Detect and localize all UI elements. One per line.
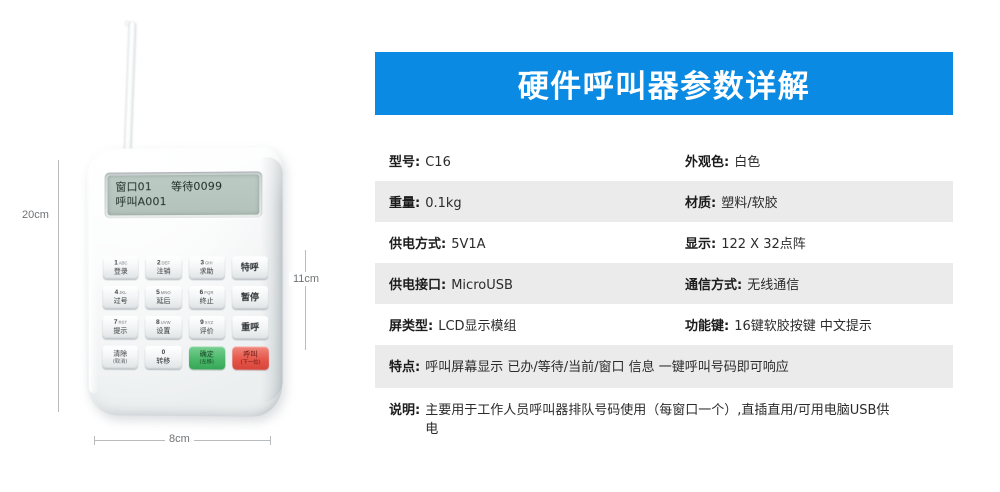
key-9-digit: 9 xyxy=(200,319,204,327)
key-confirm[interactable]: 确定 (左移) xyxy=(189,346,226,369)
height-dimension-label: 20cm xyxy=(18,208,53,222)
product-figure: 20cm 窗口01 等待0099 呼叫A001 1 xyxy=(0,0,360,492)
spec-row: 特点 : 呼叫屏幕显示 已办/等待/当前/窗口 信息 一键呼叫号码即可响应 xyxy=(375,345,953,388)
key-4-alpha: JKL xyxy=(119,289,126,297)
key-0-top: 0 xyxy=(162,349,166,357)
spec-value: 塑料/软胶 xyxy=(721,192,777,211)
key-5-alpha: MNO xyxy=(161,289,171,297)
spec-value: 呼叫屏幕显示 已办/等待/当前/窗口 信息 一键呼叫号码即可响应 xyxy=(425,358,789,377)
key-call-sublabel: (下一位) xyxy=(241,359,261,366)
spec-banner: 硬件呼叫器参数详解 xyxy=(375,52,953,115)
key-special-call-label: 特呼 xyxy=(241,258,259,278)
key-3-alpha: GHI xyxy=(205,259,213,267)
key-5-top: 5 MNO xyxy=(156,289,171,297)
spec-separator: : xyxy=(428,319,433,334)
spec-separator: : xyxy=(711,237,716,252)
key-0-transfer[interactable]: 0 转移 xyxy=(145,346,181,369)
key-6-label: 终止 xyxy=(200,297,214,306)
key-2-digit: 2 xyxy=(157,259,161,267)
key-5-label: 延后 xyxy=(156,297,170,306)
key-7-digit: 7 xyxy=(114,319,118,327)
spec-label: 特点 xyxy=(389,356,415,375)
key-recall-label: 重呼 xyxy=(241,318,259,338)
spec-label: 屏类型 xyxy=(389,315,428,334)
key-6-top: 6 PQR xyxy=(200,289,214,297)
spec-value: 16键软胶按键 中文提示 xyxy=(734,315,872,334)
key-8-label: 设置 xyxy=(156,327,170,336)
key-7-top: 7 RST xyxy=(114,319,127,327)
spec-row: 重量 : 0.1kg 材质 : 塑料/软胶 xyxy=(375,181,953,222)
key-clear-sublabel: (取消) xyxy=(113,358,127,365)
key-1-top: 1 ABC xyxy=(114,260,127,268)
spec-separator: : xyxy=(724,319,729,334)
key-9-alpha: XYZ xyxy=(205,319,214,327)
spec-cell: 通信方式 : 无线通信 xyxy=(685,263,953,304)
spec-label: 功能键 xyxy=(685,315,724,334)
key-1-alpha: ABC xyxy=(119,260,128,268)
spec-cell: 屏类型 : LCD显示模组 xyxy=(389,304,685,345)
spec-value: 5V1A xyxy=(451,237,485,252)
spec-row: 供电接口 : MicroUSB 通信方式 : 无线通信 xyxy=(375,263,953,304)
spec-cell: 供电接口 : MicroUSB xyxy=(389,263,685,304)
spec-separator: : xyxy=(711,196,716,211)
spec-cell: 重量 : 0.1kg xyxy=(389,181,685,222)
lcd-line-2: 呼叫A001 xyxy=(115,194,253,210)
key-9-rating[interactable]: 9 XYZ 评价 xyxy=(188,316,224,339)
key-pause-label: 暂停 xyxy=(241,288,259,308)
key-4-top: 4 JKL xyxy=(115,289,127,297)
spec-separator: : xyxy=(441,237,446,252)
height-dimension-line xyxy=(58,160,59,412)
key-clear-label: 清除 xyxy=(113,349,127,358)
spec-cell: 特点 : 呼叫屏幕显示 已办/等待/当前/窗口 信息 一键呼叫号码即可响应 xyxy=(389,345,949,388)
width-dimension-tick-left xyxy=(94,436,95,445)
spec-cell: 型号 : C16 xyxy=(389,140,685,181)
key-confirm-label: 确定 xyxy=(200,350,214,359)
spec-row: 说明 : 主要用于工作人员呼叫器排队号码使用（每窗口一个）,直插直用/可用电脑U… xyxy=(375,388,953,450)
key-1-login[interactable]: 1 ABC 登录 xyxy=(103,257,139,280)
spec-value: 主要用于工作人员呼叫器排队号码使用（每窗口一个）,直插直用/可用电脑USB供电 xyxy=(425,401,895,439)
key-2-label: 注销 xyxy=(157,267,171,276)
spec-label: 型号 xyxy=(389,151,415,170)
key-0-label: 转移 xyxy=(156,357,170,366)
key-special-call[interactable]: 特呼 xyxy=(232,256,269,279)
spec-label: 供电接口 xyxy=(389,274,441,293)
key-1-digit: 1 xyxy=(114,260,118,268)
key-7-prompt[interactable]: 7 RST 提示 xyxy=(102,316,138,339)
body-left-highlight xyxy=(89,165,99,394)
key-pause[interactable]: 暂停 xyxy=(232,286,269,309)
depth-dimension-label: 11cm xyxy=(289,272,323,286)
key-5-postpone[interactable]: 5 MNO 延后 xyxy=(145,286,181,309)
spec-panel: 硬件呼叫器参数详解 型号 : C16 外观色 : 白色 重量 : 0.1kg xyxy=(360,0,1000,492)
spec-cell: 外观色 : 白色 xyxy=(685,140,953,181)
key-2-logout[interactable]: 2 DEF 注销 xyxy=(146,256,182,279)
key-8-settings[interactable]: 8 UVW 设置 xyxy=(145,316,181,339)
spec-separator: : xyxy=(415,403,420,418)
key-4-digit: 4 xyxy=(115,289,119,297)
key-3-help[interactable]: 3 GHI 求助 xyxy=(188,256,224,279)
spec-value: LCD显示模组 xyxy=(438,315,516,334)
spec-table: 型号 : C16 外观色 : 白色 重量 : 0.1kg 材质 : 塑料/软胶 xyxy=(375,140,953,450)
spec-separator: : xyxy=(415,155,420,170)
keypad: 1 ABC 登录 2 DEF 注销 3 GHI 求助 特 xyxy=(102,256,269,369)
spec-label: 供电方式 xyxy=(389,233,441,252)
spec-value: 无线通信 xyxy=(747,274,799,293)
key-7-label: 提示 xyxy=(113,327,127,336)
spec-label: 外观色 xyxy=(685,151,724,170)
spec-cell: 显示 : 122 X 32点阵 xyxy=(685,222,953,263)
caller-device-body: 窗口01 等待0099 呼叫A001 1 ABC 登录 2 DE xyxy=(87,147,283,417)
key-9-label: 评价 xyxy=(200,327,214,336)
key-3-label: 求助 xyxy=(200,267,214,276)
lcd-calling-label: 呼叫A001 xyxy=(115,194,166,209)
spec-cell: 供电方式 : 5V1A xyxy=(389,222,685,263)
key-4-label: 过号 xyxy=(114,297,128,306)
spec-label: 显示 xyxy=(685,233,711,252)
key-1-label: 登录 xyxy=(114,267,128,276)
spec-value: 0.1kg xyxy=(425,196,461,211)
key-3-digit: 3 xyxy=(200,259,204,267)
spec-separator: : xyxy=(441,278,446,293)
spec-separator: : xyxy=(737,278,742,293)
key-6-alpha: PQR xyxy=(204,289,213,297)
spec-label: 通信方式 xyxy=(685,274,737,293)
spec-label: 说明 xyxy=(389,399,415,418)
key-5-digit: 5 xyxy=(156,289,160,297)
key-call-label: 呼叫 xyxy=(243,350,257,359)
key-6-digit: 6 xyxy=(200,289,204,297)
spec-separator: : xyxy=(415,196,420,211)
lcd-line-1: 窗口01 等待0099 xyxy=(115,178,253,194)
spec-row: 供电方式 : 5V1A 显示 : 122 X 32点阵 xyxy=(375,222,953,263)
key-8-digit: 8 xyxy=(156,319,160,327)
antenna xyxy=(124,22,136,157)
lcd-waiting-label: 等待0099 xyxy=(171,179,222,194)
spec-value: 白色 xyxy=(734,151,760,170)
spec-label: 重量 xyxy=(389,192,415,211)
key-8-top: 8 UVW xyxy=(156,319,171,327)
key-confirm-sublabel: (左移) xyxy=(199,359,214,366)
spec-separator: : xyxy=(724,155,729,170)
key-8-alpha: UVW xyxy=(161,319,171,327)
key-9-top: 9 XYZ xyxy=(200,319,213,327)
spec-value: MicroUSB xyxy=(451,278,513,293)
spec-banner-title: 硬件呼叫器参数详解 xyxy=(518,61,811,106)
spec-value: C16 xyxy=(425,155,451,170)
width-dimension-label: 8cm xyxy=(165,432,194,446)
key-recall[interactable]: 重呼 xyxy=(232,316,269,339)
spec-row: 型号 : C16 外观色 : 白色 xyxy=(375,140,953,181)
lcd-screen: 窗口01 等待0099 呼叫A001 xyxy=(108,174,260,215)
lcd-bezel: 窗口01 等待0099 呼叫A001 xyxy=(105,171,263,218)
spec-cell: 功能键 : 16键软胶按键 中文提示 xyxy=(685,304,953,345)
spec-label: 材质 xyxy=(685,192,711,211)
spec-cell: 说明 : 主要用于工作人员呼叫器排队号码使用（每窗口一个）,直插直用/可用电脑U… xyxy=(389,388,949,450)
key-2-alpha: DEF xyxy=(162,259,171,267)
key-3-top: 3 GHI xyxy=(200,259,212,267)
depth-dimension-line xyxy=(305,250,306,350)
key-2-top: 2 DEF xyxy=(157,259,170,267)
key-6-stop[interactable]: 6 PQR 终止 xyxy=(188,286,224,309)
key-0-digit: 0 xyxy=(162,349,166,357)
spec-row: 屏类型 : LCD显示模组 功能键 : 16键软胶按键 中文提示 xyxy=(375,304,953,345)
key-7-alpha: RST xyxy=(118,319,127,327)
key-clear[interactable]: 清除 (取消) xyxy=(102,346,138,369)
key-4-skip[interactable]: 4 JKL 过号 xyxy=(103,286,139,309)
spec-cell: 材质 : 塑料/软胶 xyxy=(685,181,953,222)
spec-separator: : xyxy=(415,360,420,375)
lcd-window-label: 窗口01 xyxy=(115,179,171,194)
width-dimension-tick-right xyxy=(270,436,271,445)
spec-value: 122 X 32点阵 xyxy=(721,233,806,252)
key-call[interactable]: 呼叫 (下一位) xyxy=(232,346,269,370)
